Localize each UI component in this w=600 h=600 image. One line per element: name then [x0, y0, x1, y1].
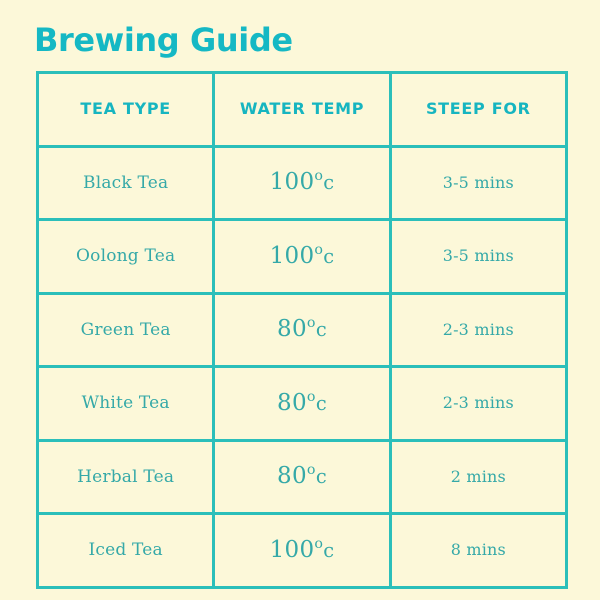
cell-water-temp-label: 80oc [215, 462, 388, 491]
table-row: Black Tea 100oc 3-5 mins [38, 146, 567, 220]
cell-water-temp: 80oc [214, 440, 390, 514]
cell-water-temp: 100oc [214, 146, 390, 220]
cell-steep-for: 2-3 mins [390, 293, 566, 367]
column-header-tea-type-label: TEA TYPE [39, 99, 212, 119]
table-header-row: TEA TYPE WATER TEMP STEEP FOR [38, 73, 567, 147]
page-title: Brewing Guide [34, 19, 293, 61]
cell-steep-for: 3-5 mins [390, 220, 566, 294]
table-row: Herbal Tea 80oc 2 mins [38, 440, 567, 514]
column-header-tea-type: TEA TYPE [38, 73, 214, 147]
cell-steep-for-label: 2-3 mins [392, 391, 565, 415]
table-row: White Tea 80oc 2-3 mins [38, 367, 567, 441]
cell-steep-for-label: 2 mins [392, 465, 565, 489]
cell-tea-type-label: Green Tea [39, 318, 212, 342]
cell-tea-type: White Tea [38, 367, 214, 441]
cell-water-temp-label: 80oc [215, 315, 388, 344]
cell-water-temp: 80oc [214, 293, 390, 367]
cell-water-temp: 80oc [214, 367, 390, 441]
cell-water-temp-label: 100oc [215, 168, 388, 197]
cell-tea-type: Iced Tea [38, 514, 214, 588]
cell-steep-for: 3-5 mins [390, 146, 566, 220]
column-header-water-temp: WATER TEMP [214, 73, 390, 147]
cell-water-temp-label: 80oc [215, 389, 388, 418]
column-header-water-temp-label: WATER TEMP [215, 99, 388, 119]
brewing-guide-page: Brewing Guide TEA TYPE WATER TEMP STEEP … [0, 0, 600, 600]
cell-tea-type: Herbal Tea [38, 440, 214, 514]
cell-tea-type-label: White Tea [39, 391, 212, 415]
cell-tea-type-label: Oolong Tea [39, 244, 212, 268]
cell-steep-for: 2-3 mins [390, 367, 566, 441]
cell-tea-type: Green Tea [38, 293, 214, 367]
cell-water-temp-label: 100oc [215, 536, 388, 565]
cell-tea-type-label: Black Tea [39, 171, 212, 195]
cell-water-temp-label: 100oc [215, 242, 388, 271]
table-header: TEA TYPE WATER TEMP STEEP FOR [38, 73, 567, 147]
cell-steep-for-label: 3-5 mins [392, 171, 565, 195]
table-row: Oolong Tea 100oc 3-5 mins [38, 220, 567, 294]
cell-tea-type-label: Herbal Tea [39, 465, 212, 489]
cell-tea-type-label: Iced Tea [39, 538, 212, 562]
brewing-guide-table: TEA TYPE WATER TEMP STEEP FOR Black Tea … [36, 71, 568, 589]
cell-water-temp: 100oc [214, 514, 390, 588]
column-header-steep-for-label: STEEP FOR [392, 99, 565, 119]
cell-steep-for-label: 3-5 mins [392, 244, 565, 268]
table-row: Iced Tea 100oc 8 mins [38, 514, 567, 588]
column-header-steep-for: STEEP FOR [390, 73, 566, 147]
cell-steep-for-label: 8 mins [392, 538, 565, 562]
cell-steep-for: 2 mins [390, 440, 566, 514]
cell-steep-for: 8 mins [390, 514, 566, 588]
cell-water-temp: 100oc [214, 220, 390, 294]
table-row: Green Tea 80oc 2-3 mins [38, 293, 567, 367]
cell-tea-type: Black Tea [38, 146, 214, 220]
table-body: Black Tea 100oc 3-5 mins Oolong Tea 100o… [38, 146, 567, 587]
cell-steep-for-label: 2-3 mins [392, 318, 565, 342]
cell-tea-type: Oolong Tea [38, 220, 214, 294]
